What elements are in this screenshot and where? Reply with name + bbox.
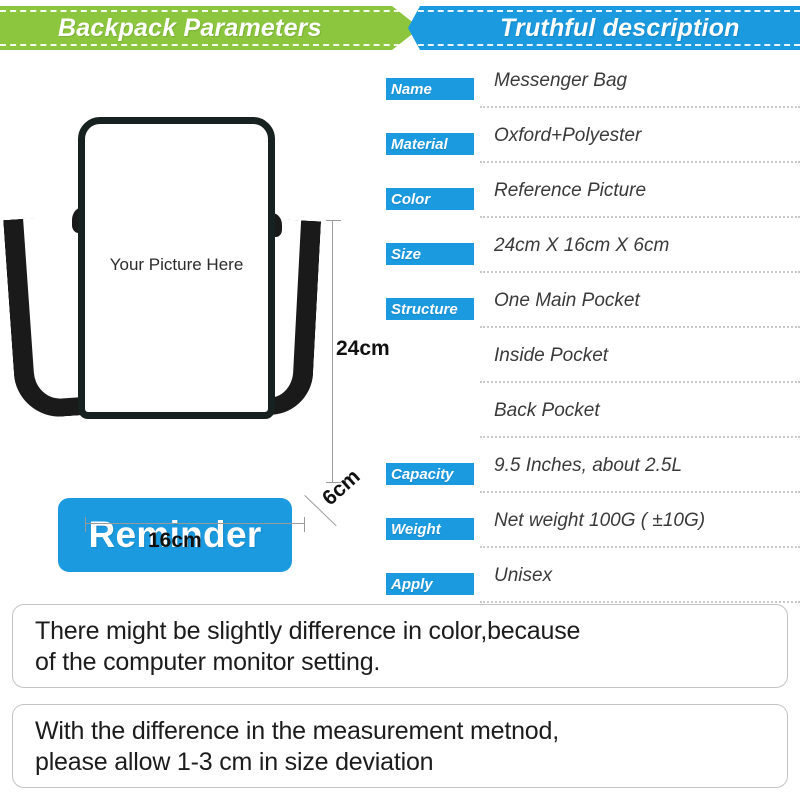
spec-dotted-rule — [480, 436, 800, 438]
note-line-1: There might be slightly difference in co… — [35, 616, 765, 647]
spec-value: Back Pocket — [494, 400, 800, 422]
note-line-2: of the computer monitor setting. — [35, 647, 765, 678]
spec-tag-label: Apply — [386, 576, 433, 593]
dimension-cap-top — [326, 220, 341, 221]
note-size-disclaimer: With the difference in the measurement m… — [12, 704, 788, 788]
note-color-disclaimer: There might be slightly difference in co… — [12, 604, 788, 688]
dimension-cap-right — [304, 517, 305, 532]
spec-value: Unisex — [494, 565, 800, 587]
spec-row: Capacity 9.5 Inches, about 2.5L — [386, 447, 800, 502]
spec-tag-label: Weight — [386, 521, 441, 538]
spec-value: One Main Pocket — [494, 290, 800, 312]
spec-tag-capacity: Capacity — [386, 463, 474, 485]
spec-tag-material: Material — [386, 133, 474, 155]
spec-dotted-rule — [480, 381, 800, 383]
dimension-line-height — [332, 220, 333, 483]
bag-illustration: Your Picture Here 24cm 16cm 6cm — [0, 95, 380, 455]
spec-dotted-rule — [480, 546, 800, 548]
spec-value: Net weight 100G ( ±10G) — [494, 510, 800, 532]
dimension-depth-label: 6cm — [318, 465, 365, 511]
spec-dotted-rule — [480, 161, 800, 163]
bag-picture-placeholder-label: Your Picture Here — [78, 255, 275, 275]
spec-value: 9.5 Inches, about 2.5L — [494, 455, 800, 477]
spec-tag-color: Color — [386, 188, 474, 210]
spec-value: Messenger Bag — [494, 70, 800, 92]
spec-value: Reference Picture — [494, 180, 800, 202]
header-banner: Backpack Parameters Truthful description — [0, 6, 800, 50]
spec-dotted-rule — [480, 326, 800, 328]
spec-tag-size: Size — [386, 243, 474, 265]
spec-value: Oxford+Polyester — [494, 125, 800, 147]
dimension-line-width — [85, 523, 305, 524]
spec-tag-label: Size — [386, 246, 421, 263]
spec-tag-apply: Apply — [386, 573, 474, 595]
spec-value: Inside Pocket — [494, 345, 800, 367]
spec-tag-weight: Weight — [386, 518, 474, 540]
spec-row: Structure One Main Pocket — [386, 282, 800, 337]
spec-dotted-rule — [480, 601, 800, 603]
spec-tag-label: Name — [386, 81, 432, 98]
spec-tag-label: Structure — [386, 301, 458, 318]
dimension-cap-left — [85, 517, 86, 532]
spec-tag-label: Color — [386, 191, 430, 208]
note-line-2: please allow 1-3 cm in size deviation — [35, 747, 765, 778]
spec-row: Inside Pocket — [386, 337, 800, 392]
spec-row: Name Messenger Bag — [386, 62, 800, 117]
dimension-height-label: 24cm — [336, 337, 390, 361]
spec-row: Color Reference Picture — [386, 172, 800, 227]
spec-tag-label: Capacity — [386, 466, 454, 483]
infographic-page: Backpack Parameters Truthful description… — [0, 0, 800, 800]
spec-tag-name: Name — [386, 78, 474, 100]
spec-dotted-rule — [480, 271, 800, 273]
spec-row: Material Oxford+Polyester — [386, 117, 800, 172]
spec-value: 24cm X 16cm X 6cm — [494, 235, 800, 257]
dimension-width-label: 16cm — [148, 529, 202, 553]
spec-row: Weight Net weight 100G ( ±10G) — [386, 502, 800, 557]
header-left-title: Backpack Parameters — [58, 6, 322, 50]
spec-row: Back Pocket — [386, 392, 800, 447]
note-line-1: With the difference in the measurement m… — [35, 716, 765, 747]
spec-tag-structure: Structure — [386, 298, 474, 320]
spec-tag-label: Material — [386, 136, 448, 153]
spec-dotted-rule — [480, 491, 800, 493]
spec-dotted-rule — [480, 106, 800, 108]
spec-row: Size 24cm X 16cm X 6cm — [386, 227, 800, 282]
spec-table: Name Messenger Bag Material Oxford+Polye… — [386, 62, 800, 612]
spec-dotted-rule — [480, 216, 800, 218]
header-right-title: Truthful description — [500, 6, 740, 50]
